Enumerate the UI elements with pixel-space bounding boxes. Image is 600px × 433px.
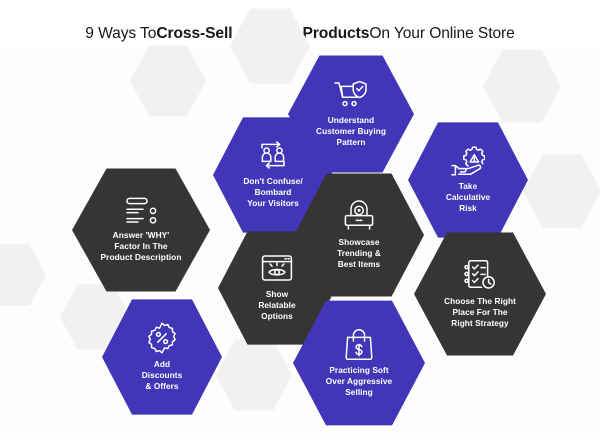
- hexagon-choose-the-right-place-for-the-right-strategy[interactable]: Choose The Right Place For The Right Str…: [414, 230, 546, 358]
- hexagon-label: Understand Customer Buying Pattern: [310, 115, 392, 148]
- hexagon-label: Showcase Trending & Best Items: [331, 237, 387, 270]
- ghost-hex-top-right: [483, 48, 561, 124]
- hand-gear-warning-icon: [451, 146, 485, 176]
- showcase-display-stand-icon: [343, 200, 375, 232]
- description-list-icon: [123, 197, 159, 225]
- page-title-suffix: On Your Online Store: [369, 25, 514, 43]
- ghost-hex-left-edge: [0, 243, 46, 307]
- hexagon-label: Answer 'WHY' Factor In The Product Descr…: [95, 230, 188, 263]
- shopping-bag-dollar-icon: [345, 328, 373, 360]
- checklist-clipboard-clock-icon: [464, 259, 496, 291]
- hexagon-label: Don't Confuse/ Bombard Your Visitors: [237, 176, 308, 209]
- ghost-hex-bottom-center: [216, 338, 292, 412]
- hexagon-label: Add Discounts & Offers: [136, 359, 189, 392]
- hexagon-take-calculative-risk[interactable]: Take Calculative Risk: [408, 120, 528, 240]
- hexagon-label: Practicing Soft Over Aggressive Selling: [320, 365, 398, 398]
- two-people-exchange-icon: [257, 141, 289, 171]
- hexagon-answer-why-factor-in-the-product-description[interactable]: Answer 'WHY' Factor In The Product Descr…: [72, 166, 210, 294]
- hexagon-diagram: Understand Customer Buying Pattern Don't…: [0, 47, 600, 433]
- ghost-hex-top-left: [130, 44, 206, 118]
- percentage-badge-icon: [146, 322, 178, 354]
- hexagon-label: Choose The Right Place For The Right Str…: [438, 296, 522, 329]
- shopping-cart-shield-check-icon: [334, 80, 368, 110]
- hexagon-label: Take Calculative Risk: [440, 181, 496, 214]
- hexagon-label: Show Relatable Options: [252, 289, 301, 322]
- ghost-hex-mid-right: [523, 153, 600, 229]
- browser-window-eye-icon: [261, 254, 293, 284]
- page-title-prefix: 9 Ways To: [85, 25, 156, 43]
